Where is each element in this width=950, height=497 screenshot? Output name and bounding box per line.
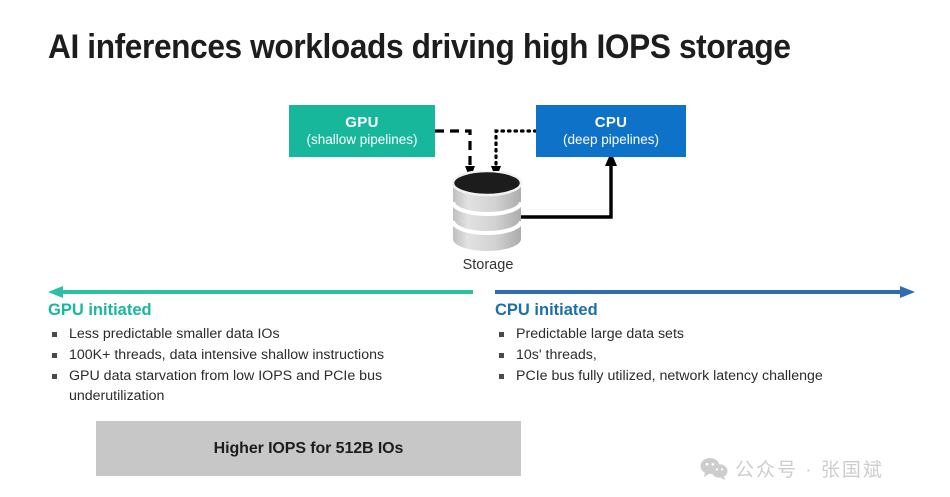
gpu-initiated-column: GPU initiated Less predictable smaller d… [48,286,473,408]
list-item: Less predictable smaller data IOs [48,324,473,344]
storage-to-cpu-line [519,165,611,217]
gpu-to-storage-line [435,131,470,167]
architecture-diagram: GPU (shallow pipelines) CPU (deep pipeli… [0,95,950,285]
gpu-node[interactable]: GPU (shallow pipelines) [289,105,435,157]
cpu-initiated-heading: CPU initiated [495,301,915,320]
list-item: PCIe bus fully utilized, network latency… [495,366,915,386]
cpu-initiated-column: CPU initiated Predictable large data set… [495,286,915,387]
list-item: GPU data starvation from low IOPS and PC… [48,366,473,406]
cpu-node-subtitle: (deep pipelines) [563,132,659,148]
gpu-node-subtitle: (shallow pipelines) [306,132,417,148]
cpu-bullet-list: Predictable large data sets 10s' threads… [495,324,915,386]
gpu-node-title: GPU [345,114,378,132]
gpu-direction-arrow [48,286,473,300]
list-item: 10s' threads, [495,345,915,365]
cpu-direction-arrow [495,286,915,300]
gpu-footer-banner: Higher IOPS for 512B IOs [96,421,521,476]
page-title: AI inferences workloads driving high IOP… [48,28,848,67]
list-item: 100K+ threads, data intensive shallow in… [48,345,473,365]
slide-canvas: AI inferences workloads driving high IOP… [0,0,950,497]
comparison-columns: GPU initiated Less predictable smaller d… [0,286,950,497]
cpu-node[interactable]: CPU (deep pipelines) [536,105,686,157]
cpu-to-storage-line [496,131,536,167]
cpu-node-title: CPU [595,114,628,132]
gpu-initiated-heading: GPU initiated [48,301,473,320]
gpu-bullet-list: Less predictable smaller data IOs 100K+ … [48,324,473,407]
list-item: Predictable large data sets [495,324,915,344]
storage-label: Storage [430,257,546,273]
storage-cylinder-icon [451,171,523,253]
